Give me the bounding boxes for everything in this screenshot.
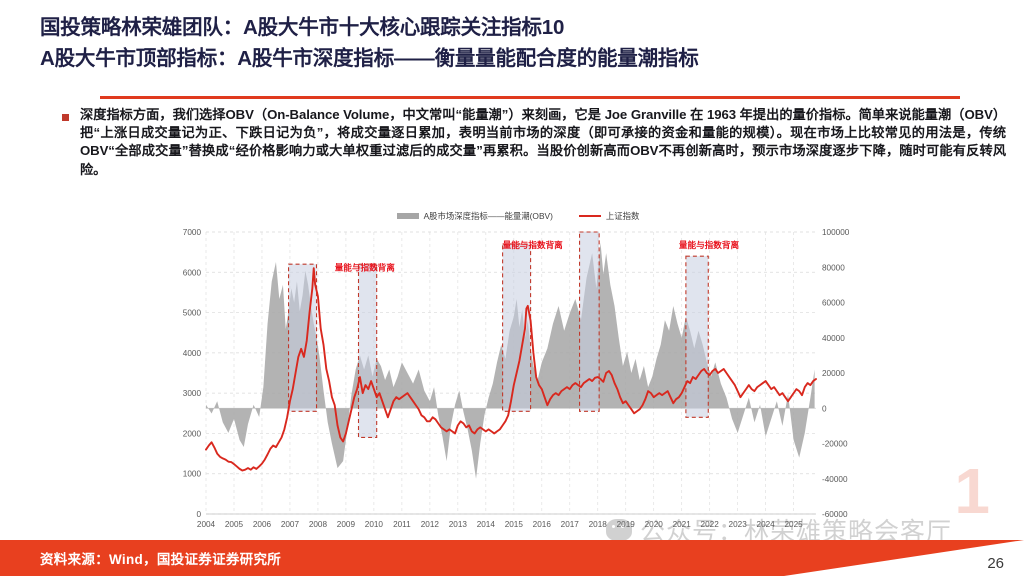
legend-item-index: 上证指数: [579, 210, 640, 222]
svg-text:20000: 20000: [822, 369, 845, 378]
svg-text:-60000: -60000: [822, 510, 848, 519]
svg-text:80000: 80000: [822, 263, 845, 272]
page-title: 国投策略林荣雄团队：A股大牛市十大核心跟踪关注指标10 A股大牛市顶部指标：A股…: [40, 12, 1014, 74]
svg-text:2010: 2010: [365, 520, 384, 529]
svg-text:2015: 2015: [505, 520, 524, 529]
svg-text:2021: 2021: [673, 520, 692, 529]
svg-text:2025: 2025: [785, 520, 804, 529]
svg-text:2013: 2013: [449, 520, 468, 529]
svg-text:-40000: -40000: [822, 475, 848, 484]
svg-text:2006: 2006: [253, 520, 272, 529]
legend-swatch-area-icon: [397, 213, 419, 219]
chart-plot-area: 量能与指数背离量能与指数背离量能与指数背离0100020003000400050…: [168, 226, 868, 538]
svg-text:2019: 2019: [617, 520, 636, 529]
svg-text:2017: 2017: [561, 520, 580, 529]
body-bullet-row: 深度指标方面，我们选择OBV（On-Balance Volume，中文常叫“能量…: [62, 106, 1006, 179]
body-paragraph: 深度指标方面，我们选择OBV（On-Balance Volume，中文常叫“能量…: [80, 106, 1006, 179]
svg-text:0: 0: [196, 510, 201, 519]
svg-text:1000: 1000: [183, 470, 202, 479]
svg-text:量能与指数背离: 量能与指数背离: [679, 239, 740, 250]
svg-text:2014: 2014: [477, 520, 496, 529]
slide-root: 国投策略林荣雄团队：A股大牛市十大核心跟踪关注指标10 A股大牛市顶部指标：A股…: [0, 0, 1024, 576]
svg-text:0: 0: [822, 404, 827, 413]
svg-text:2020: 2020: [645, 520, 664, 529]
svg-text:2009: 2009: [337, 520, 356, 529]
svg-text:2000: 2000: [183, 429, 202, 438]
svg-text:2011: 2011: [393, 520, 411, 529]
svg-text:100000: 100000: [822, 228, 850, 237]
svg-text:量能与指数背离: 量能与指数背离: [503, 239, 564, 250]
legend-item-obv: A股市场深度指标——能量潮(OBV): [397, 210, 553, 222]
title-line-2: A股大牛市顶部指标：A股牛市深度指标——衡量量能配合度的能量潮指标: [40, 43, 1014, 74]
bullet-square-icon: [62, 114, 69, 121]
svg-text:2005: 2005: [225, 520, 244, 529]
source-text: 资料来源：Wind，国投证券证券研究所: [40, 548, 281, 568]
svg-text:2018: 2018: [589, 520, 608, 529]
svg-text:2022: 2022: [701, 520, 720, 529]
svg-text:5000: 5000: [183, 309, 202, 318]
svg-text:2008: 2008: [309, 520, 328, 529]
svg-text:2007: 2007: [281, 520, 300, 529]
title-divider: [100, 96, 960, 99]
svg-text:-20000: -20000: [822, 440, 848, 449]
svg-text:60000: 60000: [822, 299, 845, 308]
svg-text:2016: 2016: [533, 520, 552, 529]
chart-legend: A股市场深度指标——能量潮(OBV) 上证指数: [168, 210, 868, 222]
svg-text:3000: 3000: [183, 389, 202, 398]
legend-label-index: 上证指数: [606, 210, 640, 222]
svg-text:6000: 6000: [183, 268, 202, 277]
legend-label-obv: A股市场深度指标——能量潮(OBV): [424, 210, 553, 222]
svg-text:量能与指数背离: 量能与指数背离: [335, 261, 396, 272]
svg-text:2023: 2023: [729, 520, 748, 529]
page-number: 26: [987, 555, 1004, 572]
svg-text:2012: 2012: [421, 520, 440, 529]
ghost-numeral: 1: [954, 454, 990, 528]
legend-swatch-line-icon: [579, 215, 601, 217]
svg-text:7000: 7000: [183, 228, 202, 237]
svg-text:4000: 4000: [183, 349, 202, 358]
svg-text:2004: 2004: [197, 520, 216, 529]
svg-text:40000: 40000: [822, 334, 845, 343]
title-line-1: 国投策略林荣雄团队：A股大牛市十大核心跟踪关注指标10: [40, 12, 1014, 43]
svg-text:2024: 2024: [757, 520, 776, 529]
obv-chart: A股市场深度指标——能量潮(OBV) 上证指数 量能与指数背离量能与指数背离量能…: [168, 208, 868, 538]
